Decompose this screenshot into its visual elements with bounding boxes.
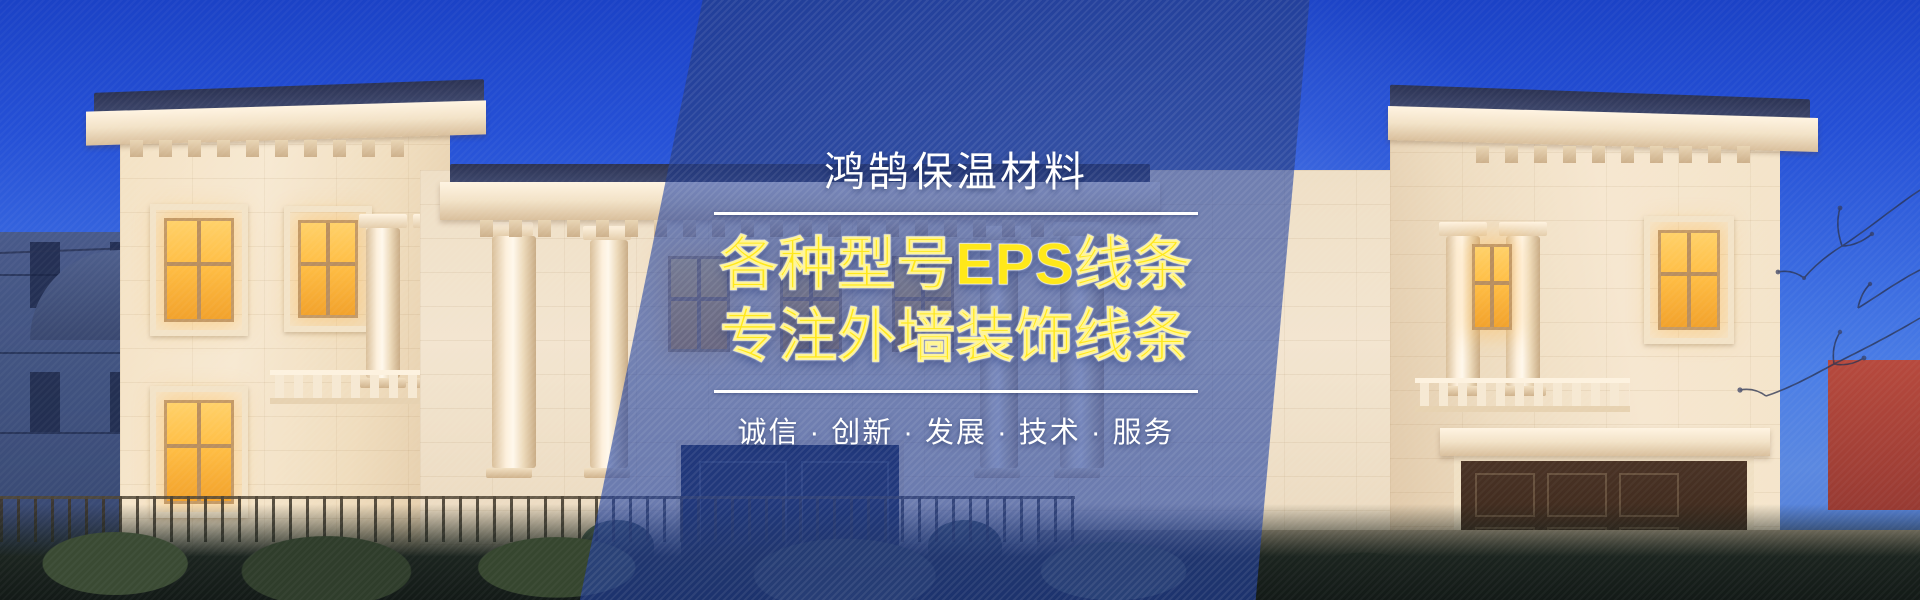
banner-text-block: 鸿鹄保温材料 各种型号EPS线条 专注外墙装饰线条 诚信 · 创新 · 发展 ·…	[706, 0, 1206, 600]
tagline: 诚信 · 创新 · 发展 · 技术 · 服务	[737, 409, 1174, 451]
column	[366, 228, 400, 378]
headline-line-1: 各种型号EPS线条	[719, 232, 1192, 297]
bare-tree-branches	[1590, 150, 1920, 480]
headline-line-2: 专注外墙装饰线条	[719, 301, 1192, 373]
brand-name: 鸿鹄保温材料	[824, 149, 1088, 196]
column	[492, 236, 536, 468]
window-frame	[150, 204, 248, 336]
promo-banner: 鸿鹄保温材料 各种型号EPS线条 专注外墙装饰线条 诚信 · 创新 · 发展 ·…	[0, 0, 1920, 600]
window-lit	[1472, 244, 1512, 330]
divider-top	[714, 212, 1198, 215]
headline: 各种型号EPS线条 专注外墙装饰线条	[719, 229, 1192, 373]
left-dentils	[130, 140, 404, 157]
divider-bottom	[714, 390, 1198, 393]
